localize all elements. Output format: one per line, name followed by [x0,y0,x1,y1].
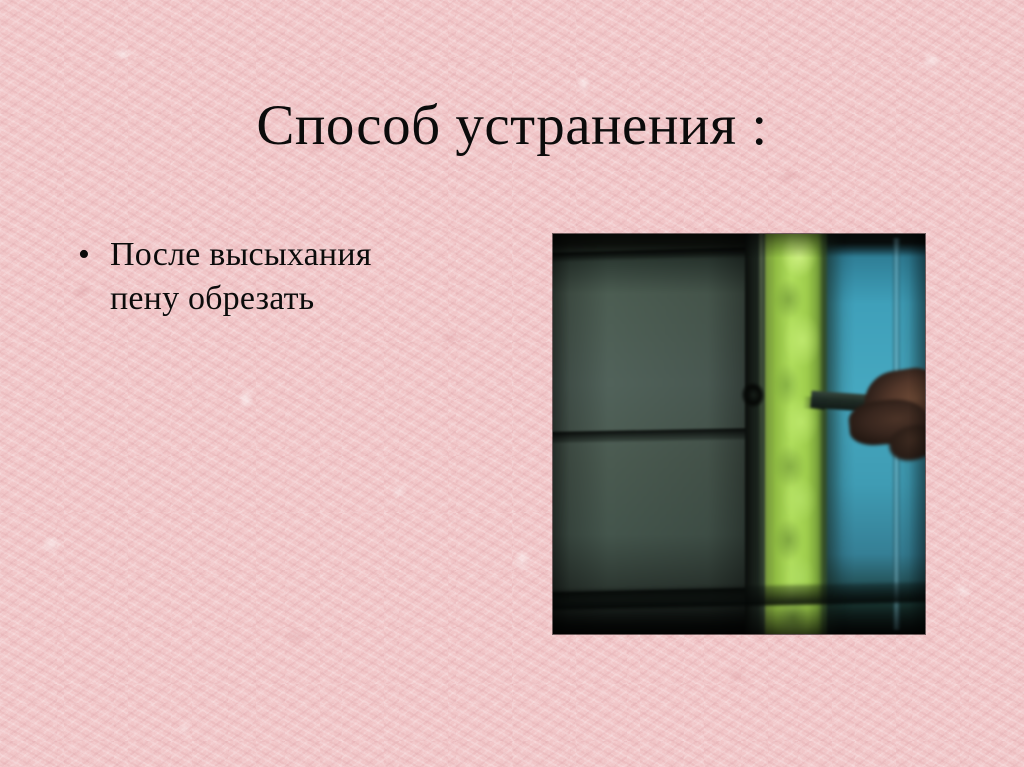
bullet-item-label: После высыхания пену обрезать [110,233,508,321]
slide-photo [553,234,925,634]
bullet-line-2: пену обрезать [110,277,508,321]
bullet-line-1: После высыхания [110,233,508,277]
slide-body-content: • После высыхания пену обрезать [78,233,508,321]
photo-vignette [553,234,925,634]
list-item: • После высыхания пену обрезать [78,233,508,321]
slide-title: Способ устранения : [0,96,1024,156]
photo-canvas [553,234,925,634]
presentation-slide: Способ устранения : • После высыхания пе… [0,0,1024,767]
bullet-point-icon: • [78,233,110,277]
